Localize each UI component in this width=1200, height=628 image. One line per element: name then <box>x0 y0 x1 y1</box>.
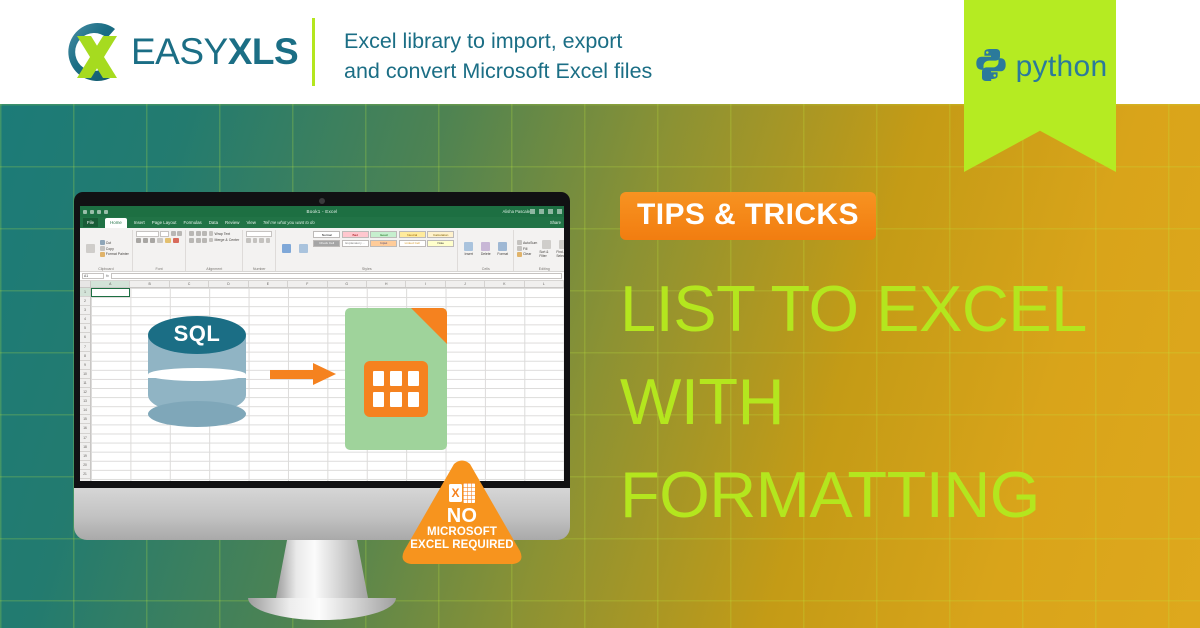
percent-icon[interactable] <box>253 238 258 243</box>
col-header-b[interactable]: B <box>130 281 169 287</box>
format-painter-button[interactable]: Format Painter <box>100 252 129 257</box>
brand-logo[interactable]: EASYXLS <box>55 16 298 88</box>
col-header-i[interactable]: I <box>406 281 445 287</box>
tips-tricks-badge: TIPS & TRICKS <box>620 192 876 240</box>
row-header[interactable]: 2 <box>80 297 90 306</box>
group-label-styles: Styles <box>276 267 457 271</box>
tab-insert[interactable]: Insert <box>134 220 145 225</box>
col-header-j[interactable]: J <box>446 281 485 287</box>
row-header[interactable]: 11 <box>80 379 90 388</box>
tab-file[interactable]: File <box>83 218 98 227</box>
selected-cell-a1[interactable] <box>91 288 130 297</box>
borders-icon[interactable] <box>157 238 163 243</box>
no-excel-required-badge: X NO MICROSOFT EXCEL REQUIRED <box>399 457 525 569</box>
row-header[interactable]: 10 <box>80 370 90 379</box>
delete-cells-button[interactable]: Delete <box>478 231 493 266</box>
row-header[interactable]: 7 <box>80 343 90 352</box>
ribbon-group-clipboard: Cut Copy Format Painter Clipboard <box>80 230 133 271</box>
conditional-formatting-button[interactable] <box>279 231 294 266</box>
monitor-stand-neck <box>276 540 368 598</box>
excel-file-icon: X <box>449 483 475 503</box>
tell-me-search[interactable]: Tell me what you want to do <box>263 220 315 225</box>
paste-button[interactable] <box>83 231 98 266</box>
page-title: LIST TO EXCEL WITH FORMATTING <box>620 262 1140 541</box>
group-label-editing: Editing <box>514 267 564 271</box>
font-family-select[interactable] <box>136 231 159 237</box>
monitor-stand-base <box>248 598 396 620</box>
marketing-copy: TIPS & TRICKS LIST TO EXCEL WITH FORMATT… <box>620 192 1140 541</box>
cell-style-linked-cell[interactable]: Linked Cell <box>399 240 426 247</box>
col-header-d[interactable]: D <box>209 281 248 287</box>
align-right-icon[interactable] <box>202 238 207 243</box>
row-header[interactable]: 19 <box>80 452 90 461</box>
sort-filter-button[interactable]: Sort & Filter <box>539 231 554 266</box>
underline-icon[interactable] <box>150 238 155 243</box>
autosum-button[interactable]: AutoSum <box>517 240 537 245</box>
tab-page-layout[interactable]: Page Layout <box>152 220 177 225</box>
italic-icon[interactable] <box>143 238 148 243</box>
format-as-table-button[interactable] <box>296 231 311 266</box>
row-header[interactable]: 8 <box>80 352 90 361</box>
brand-wordmark: EASYXLS <box>131 31 298 73</box>
group-label-font: Font <box>133 267 186 271</box>
tab-review[interactable]: Review <box>225 220 239 225</box>
cell-style-good[interactable]: Good <box>370 231 397 238</box>
cell-styles-gallery[interactable]: Normal Bad Good Neutral Calculation Chec… <box>313 231 454 266</box>
monitor-screen: Book1 - Excel Alisha Pascale File Home I… <box>80 206 564 481</box>
col-header-l[interactable]: L <box>525 281 564 287</box>
formula-bar-row[interactable]: A1 fx <box>80 272 564 281</box>
col-header-h[interactable]: H <box>367 281 406 287</box>
row-header[interactable]: 4 <box>80 315 90 324</box>
cell-style-note[interactable]: Note <box>427 240 454 247</box>
row-headers[interactable]: 1 2 3 4 5 6 7 8 9 10 11 12 13 <box>80 288 91 481</box>
excel-title-bar: Book1 - Excel Alisha Pascale <box>80 206 564 217</box>
share-button[interactable]: Share <box>550 220 561 225</box>
fill-color-icon[interactable] <box>165 238 171 243</box>
badge-line-3: EXCEL REQUIRED <box>399 539 525 552</box>
font-color-icon[interactable] <box>173 238 179 243</box>
insert-cells-button[interactable]: Insert <box>461 231 476 266</box>
clear-button[interactable]: Clear <box>517 252 537 257</box>
cell-style-bad[interactable]: Bad <box>342 231 369 238</box>
worksheet-grid[interactable]: A B C D E F G H I J K L <box>80 281 564 481</box>
tab-formulas[interactable]: Formulas <box>183 220 201 225</box>
cell-style-input[interactable]: Input <box>370 240 397 247</box>
excel-ribbon-tabs[interactable]: File Home Insert Page Layout Formulas Da… <box>80 217 564 228</box>
ribbon-options-icon[interactable] <box>530 209 535 214</box>
wrap-text-button[interactable]: Wrap Text <box>209 231 230 236</box>
comma-icon[interactable] <box>259 238 264 243</box>
bold-icon[interactable] <box>136 238 141 243</box>
badge-line-1: NO <box>399 506 525 526</box>
cells-area[interactable] <box>91 288 564 481</box>
brand-name-bold: XLS <box>228 31 298 72</box>
group-label-clipboard: Clipboard <box>80 267 132 271</box>
tab-view[interactable]: View <box>246 220 255 225</box>
row-header[interactable]: 16 <box>80 424 90 433</box>
format-cells-button[interactable]: Format <box>495 231 510 266</box>
row-header[interactable]: 14 <box>80 406 90 415</box>
ribbon-group-editing: AutoSum Fill Clear Sort & Filter Find & … <box>514 230 564 271</box>
minimize-icon[interactable] <box>539 209 544 214</box>
align-top-icon[interactable] <box>189 231 194 236</box>
align-center-icon[interactable] <box>196 238 201 243</box>
increase-font-icon[interactable] <box>171 231 176 236</box>
window-controls[interactable] <box>530 209 562 214</box>
ribbon-group-alignment: Wrap Text Merge & Center Alignment <box>186 230 243 271</box>
row-header[interactable]: 17 <box>80 434 90 443</box>
tab-home[interactable]: Home <box>105 218 127 228</box>
badge-line-2: MICROSOFT <box>399 526 525 539</box>
cell-style-explanatory[interactable]: Explanatory ... <box>342 240 369 247</box>
currency-icon[interactable] <box>246 238 251 243</box>
copy-button[interactable]: Copy <box>100 246 129 251</box>
fx-icon[interactable]: fx <box>106 274 109 278</box>
close-icon[interactable] <box>557 209 562 214</box>
maximize-icon[interactable] <box>548 209 553 214</box>
align-bottom-icon[interactable] <box>202 231 207 236</box>
cut-button[interactable]: Cut <box>100 240 129 245</box>
poster-canvas: EASYXLS Excel library to import, export … <box>0 0 1200 628</box>
col-header-g[interactable]: G <box>328 281 367 287</box>
header-tagline: Excel library to import, export and conv… <box>344 26 652 86</box>
formula-input[interactable] <box>111 273 562 279</box>
column-headers[interactable]: A B C D E F G H I J K L <box>80 281 564 288</box>
python-logo-icon <box>973 46 1009 87</box>
tab-data[interactable]: Data <box>209 220 218 225</box>
col-header-e[interactable]: E <box>249 281 288 287</box>
group-label-number: Number <box>243 267 275 271</box>
row-header[interactable]: 6 <box>80 333 90 342</box>
col-header-k[interactable]: K <box>485 281 524 287</box>
cell-style-calculation[interactable]: Calculation <box>427 231 454 238</box>
easyxls-logo-icon <box>55 16 129 88</box>
select-all-corner[interactable] <box>80 281 91 287</box>
cell-style-normal[interactable]: Normal <box>313 231 340 238</box>
ribbon-group-cells: Insert Delete Format Cells <box>458 230 514 271</box>
font-size-select[interactable] <box>160 231 169 237</box>
webcam-icon <box>319 198 325 204</box>
row-header[interactable]: 1 <box>80 288 90 297</box>
fill-button[interactable]: Fill <box>517 246 537 251</box>
row-header[interactable]: 3 <box>80 306 90 315</box>
ribbon-group-number: Number <box>243 230 276 271</box>
excel-ribbon[interactable]: Cut Copy Format Painter Clipboard <box>80 228 564 272</box>
row-header[interactable]: 13 <box>80 397 90 406</box>
brand-name-light: EASY <box>131 31 228 72</box>
number-format-select[interactable] <box>246 231 272 237</box>
col-header-c[interactable]: C <box>170 281 209 287</box>
row-header[interactable]: 20 <box>80 461 90 470</box>
name-box[interactable]: A1 <box>82 273 104 279</box>
row-header[interactable]: 15 <box>80 415 90 424</box>
col-header-f[interactable]: F <box>288 281 327 287</box>
document-title: Book1 - Excel <box>80 209 564 214</box>
group-label-cells: Cells <box>458 267 513 271</box>
python-label: python <box>1016 50 1108 84</box>
find-select-button[interactable]: Find & Select <box>556 231 564 266</box>
monitor-bezel: Book1 - Excel Alisha Pascale File Home I… <box>74 192 570 488</box>
align-middle-icon[interactable] <box>196 231 201 236</box>
account-name[interactable]: Alisha Pascale <box>503 209 530 214</box>
row-header[interactable]: 18 <box>80 443 90 452</box>
group-label-alignment: Alignment <box>186 267 242 271</box>
row-header[interactable]: 21 <box>80 470 90 479</box>
ribbon-group-styles: Normal Bad Good Neutral Calculation Chec… <box>276 230 458 271</box>
header-divider <box>312 18 315 86</box>
row-header[interactable]: 5 <box>80 324 90 333</box>
align-left-icon[interactable] <box>189 238 194 243</box>
decimal-icon[interactable] <box>266 238 271 243</box>
merge-center-button[interactable]: Merge & Center <box>209 238 239 243</box>
row-header[interactable]: 12 <box>80 388 90 397</box>
cell-style-check-cell[interactable]: Check Cell <box>313 240 340 247</box>
col-header-a[interactable]: A <box>91 281 130 287</box>
ribbon-group-font: Font <box>133 230 187 271</box>
cell-style-neutral[interactable]: Neutral <box>399 231 426 238</box>
row-header[interactable]: 9 <box>80 361 90 370</box>
decrease-font-icon[interactable] <box>177 231 182 236</box>
